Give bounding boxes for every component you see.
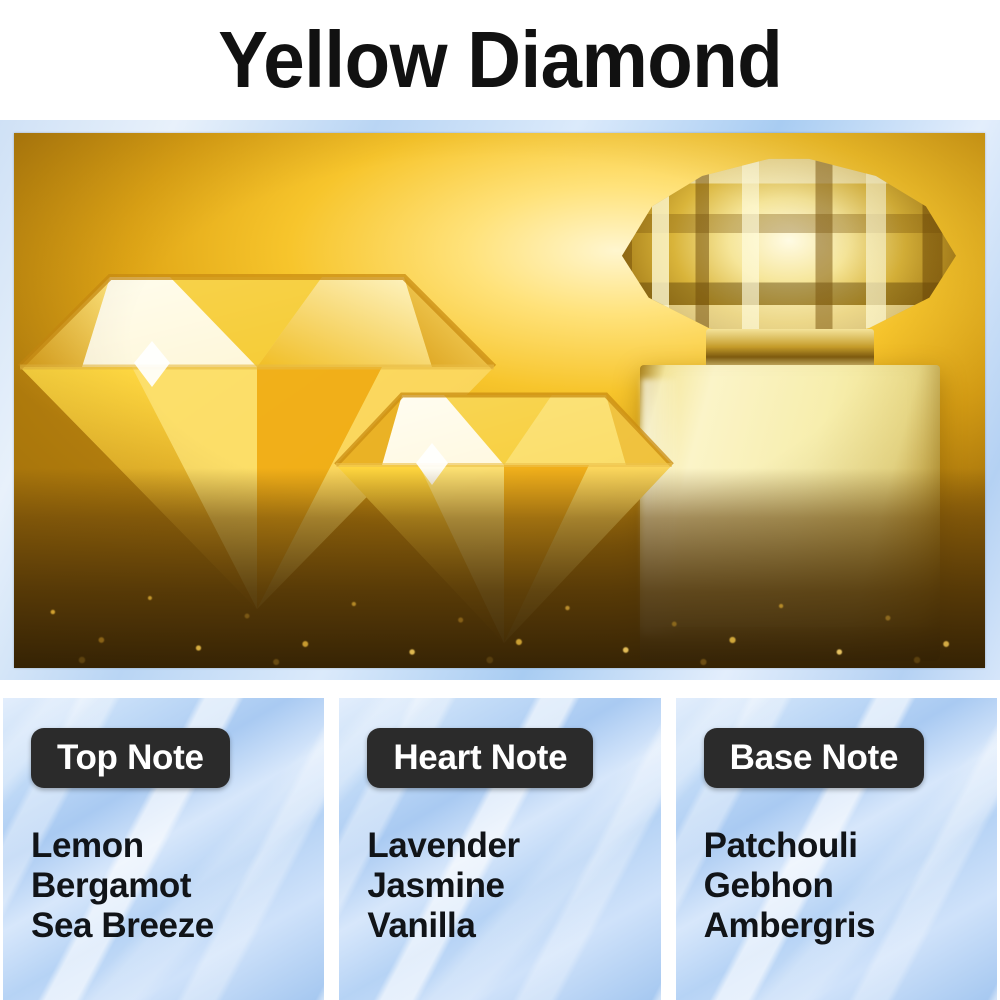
note-item: Gebhon <box>704 866 997 906</box>
note-badge-base: Base Note <box>704 728 924 788</box>
note-item: Patchouli <box>704 826 997 866</box>
note-item: Ambergris <box>704 906 997 946</box>
gold-glitter-floor <box>14 468 985 668</box>
note-item: Lavender <box>367 826 660 866</box>
note-list-heart: Lavender Jasmine Vanilla <box>367 826 660 946</box>
fragrance-notes-row: Top Note Lemon Bergamot Sea Breeze Heart… <box>0 698 1000 1000</box>
note-card-top: Top Note Lemon Bergamot Sea Breeze <box>3 698 324 1000</box>
note-item: Sea Breeze <box>31 906 324 946</box>
note-list-top: Lemon Bergamot Sea Breeze <box>31 826 324 946</box>
title-bar: Yellow Diamond <box>0 0 1000 120</box>
note-card-base: Base Note Patchouli Gebhon Ambergris <box>676 698 997 1000</box>
note-list-base: Patchouli Gebhon Ambergris <box>704 826 997 946</box>
note-item: Vanilla <box>367 906 660 946</box>
note-badge-heart: Heart Note <box>367 728 593 788</box>
hero-section <box>0 120 1000 680</box>
note-card-heart: Heart Note Lavender Jasmine Vanilla <box>339 698 660 1000</box>
hero-image <box>14 133 985 668</box>
note-item: Jasmine <box>367 866 660 906</box>
page-title: Yellow Diamond <box>218 20 782 100</box>
note-item: Bergamot <box>31 866 324 906</box>
note-badge-top: Top Note <box>31 728 230 788</box>
note-item: Lemon <box>31 826 324 866</box>
